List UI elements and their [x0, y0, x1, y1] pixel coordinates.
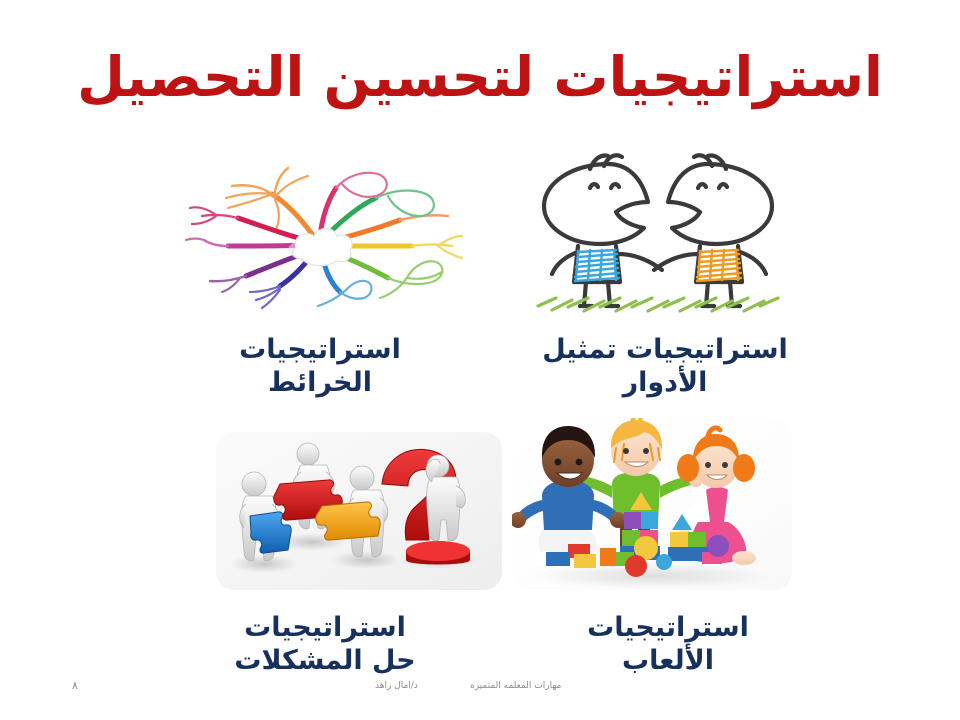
label-puzzle-line2: حل المشكلات [160, 645, 490, 678]
label-mindmap-line1: استراتيجيات [160, 334, 480, 367]
label-puzzle-line1: استراتيجيات [160, 612, 490, 645]
label-puzzle: استراتيجيات حل المشكلات [160, 612, 490, 678]
children-playing-blocks [512, 418, 792, 590]
label-roleplay-line2: الأدوار [500, 367, 830, 400]
label-kids-line2: الألعاب [508, 645, 828, 678]
label-kids: استراتيجيات الألعاب [508, 612, 828, 678]
label-kids-line1: استراتيجيات [508, 612, 828, 645]
label-roleplay-line1: استراتيجيات تمثيل [500, 334, 830, 367]
two-doodle-figures-talking [512, 150, 804, 315]
label-roleplay: استراتيجيات تمثيل الأدوار [500, 334, 830, 400]
footer-author: د/امال زاهد [375, 681, 418, 691]
label-mindmap: استراتيجيات الخرائط [160, 334, 480, 400]
mind-map-illustration [176, 158, 466, 318]
label-mindmap-line2: الخرائط [160, 367, 480, 400]
presentation-slide: استراتيجيات لتحسين التحصيل [0, 0, 960, 720]
slide-number: ٨ [72, 679, 78, 692]
page-title: استراتيجيات لتحسين التحصيل [0, 46, 960, 109]
puzzle-pieces-question-mark [216, 432, 502, 590]
footer-course-title: مهارات المعلمه المتميزه [470, 681, 561, 691]
